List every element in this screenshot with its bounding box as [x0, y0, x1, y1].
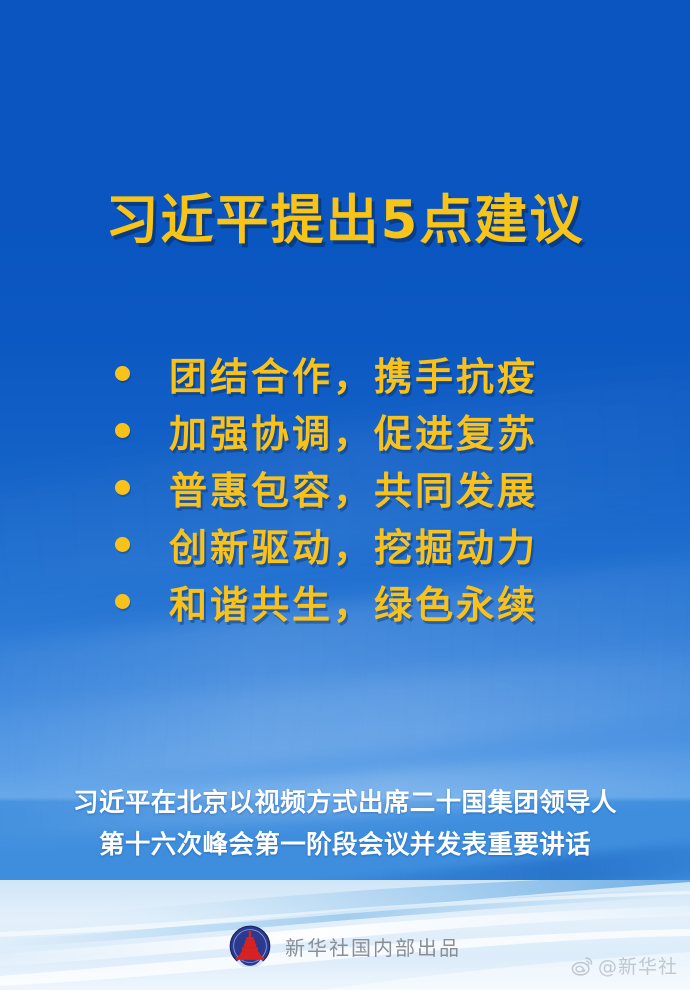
page-title: 习近平提出5点建议: [0, 178, 690, 254]
bullet-dot-icon: [115, 594, 130, 609]
proposal-list: 团结合作，携手抗疫 加强协调，促进复苏 普惠包容，共同发展 创新驱动，挖掘动力 …: [0, 345, 690, 630]
list-item-label: 普惠包容，共同发展: [169, 460, 538, 515]
list-item: 团结合作，携手抗疫: [0, 345, 690, 402]
bullet-dot-icon: [115, 423, 130, 438]
list-item-label: 创新驱动，挖掘动力: [169, 517, 538, 572]
list-item: 和谐共生，绿色永续: [0, 573, 690, 630]
poster-canvas: 习近平提出5点建议 团结合作，携手抗疫 加强协调，促进复苏 普惠包容，共同发展 …: [0, 0, 690, 990]
xinhua-agency-logo-icon: XINHUA: [229, 925, 271, 967]
weibo-handle: @新华社: [598, 952, 678, 979]
caption-line-2: 第十六次峰会第一阶段会议并发表重要讲话: [0, 824, 690, 866]
list-item: 普惠包容，共同发展: [0, 459, 690, 516]
weibo-icon: [571, 955, 593, 977]
credit-label: 新华社国内部出品: [285, 932, 461, 961]
list-item: 创新驱动，挖掘动力: [0, 516, 690, 573]
weibo-watermark: @新华社: [571, 952, 678, 979]
caption: 习近平在北京以视频方式出席二十国集团领导人 第十六次峰会第一阶段会议并发表重要讲…: [0, 782, 690, 866]
bullet-dot-icon: [115, 366, 130, 381]
list-item-label: 团结合作，携手抗疫: [169, 346, 538, 401]
svg-text:XINHUA: XINHUA: [244, 959, 255, 963]
caption-line-1: 习近平在北京以视频方式出席二十国集团领导人: [0, 782, 690, 824]
bullet-dot-icon: [115, 480, 130, 495]
bullet-dot-icon: [115, 537, 130, 552]
list-item: 加强协调，促进复苏: [0, 402, 690, 459]
list-item-label: 加强协调，促进复苏: [169, 403, 538, 458]
list-item-label: 和谐共生，绿色永续: [169, 574, 538, 629]
